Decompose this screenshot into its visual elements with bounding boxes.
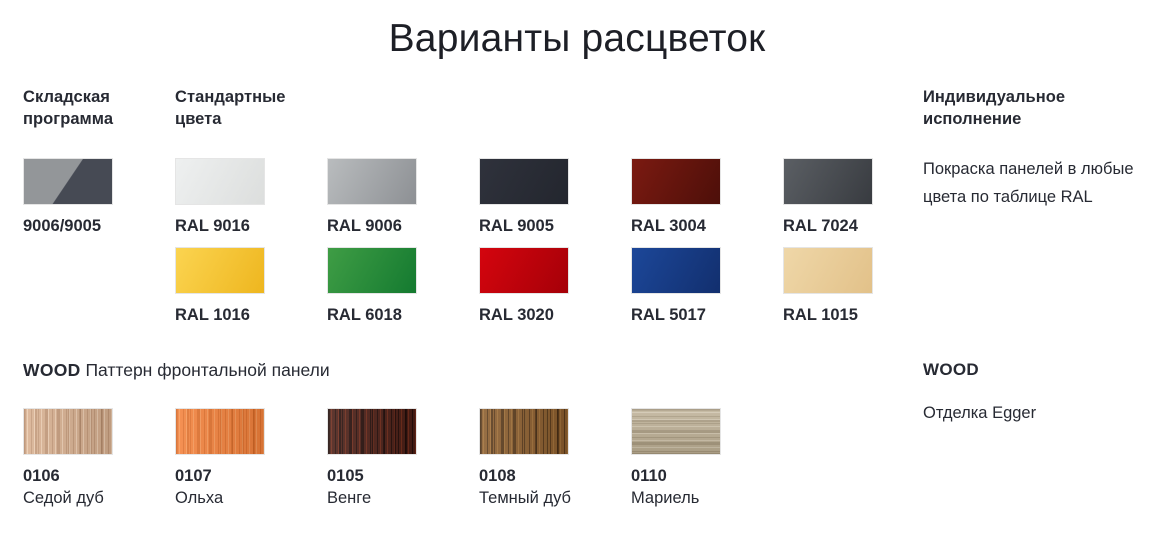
swatch-fill [328,248,416,293]
color-swatch-ral-9006[interactable]: RAL 9006 [327,158,477,237]
wood-swatch-0110[interactable]: 0110Мариель [631,408,781,510]
wood-swatch-code: 0106 [23,466,173,487]
wood-right-description: Отделка Egger [923,400,1148,426]
wood-swatch-0106[interactable]: 0106Седой дуб [23,408,173,510]
swatch-label: RAL 1016 [175,305,325,326]
swatch-fill [784,248,872,293]
swatch-box[interactable] [631,158,721,205]
color-swatch-ral-3004[interactable]: RAL 3004 [631,158,781,237]
color-swatch-ral-1016[interactable]: RAL 1016 [175,247,325,326]
color-swatch-ral-3020[interactable]: RAL 3020 [479,247,629,326]
swatch-box[interactable] [175,408,265,455]
wood-swatch-name: Мариель [631,487,781,510]
swatch-fill [328,159,416,204]
swatch-fill [176,159,264,204]
swatch-box[interactable] [23,158,113,205]
swatch-box[interactable] [175,158,265,205]
swatch-label: RAL 9005 [479,216,629,237]
swatch-label: RAL 9016 [175,216,325,237]
wood-sheen-overlay [24,409,112,454]
swatch-box[interactable] [479,408,569,455]
swatch-box[interactable] [783,247,873,294]
wood-swatch-name: Седой дуб [23,487,173,510]
custom-execution-description: Покраска панелей в любые цвета по таблиц… [923,155,1148,211]
color-swatch-ral-1015[interactable]: RAL 1015 [783,247,933,326]
heading-custom-execution: Индивидуальноеисполнение [923,86,1148,130]
swatch-fill [480,248,568,293]
swatch-fill [632,159,720,204]
swatch-label: RAL 5017 [631,305,781,326]
color-swatch-ral-6018[interactable]: RAL 6018 [327,247,477,326]
swatch-box[interactable] [783,158,873,205]
wood-sheen-overlay [632,409,720,454]
wood-swatch-0108[interactable]: 0108Темный дуб [479,408,629,510]
swatch-box[interactable] [479,247,569,294]
heading-standard-colors: Стандартныецвета [175,86,345,130]
wood-swatch-code: 0105 [327,466,477,487]
wood-swatch-0105[interactable]: 0105Венге [327,408,477,510]
wood-section-heading-rest: Паттерн фронтальной панели [81,360,330,380]
swatch-label: RAL 7024 [783,216,933,237]
wood-section-heading: WOOD Паттерн фронтальной панели [23,360,330,381]
swatch-label: RAL 1015 [783,305,933,326]
swatch-label: RAL 3020 [479,305,629,326]
wood-right-heading: WOOD [923,360,979,380]
wood-sheen-overlay [176,409,264,454]
swatch-box[interactable] [23,408,113,455]
heading-stock-program: Складскаяпрограмма [23,86,173,130]
swatch-fill [24,159,112,204]
wood-swatch-name: Темный дуб [479,487,629,510]
wood-swatch-code: 0108 [479,466,629,487]
swatch-fill [784,159,872,204]
page-title: Варианты расцветок [0,14,1154,64]
wood-sheen-overlay [328,409,416,454]
wood-section-heading-bold: WOOD [23,360,81,380]
swatch-box[interactable] [327,408,417,455]
swatch-box[interactable] [175,247,265,294]
wood-swatch-0107[interactable]: 0107Ольха [175,408,325,510]
wood-swatch-name: Венге [327,487,477,510]
swatch-fill [632,248,720,293]
swatch-box[interactable] [327,158,417,205]
color-swatch-ral-7024[interactable]: RAL 7024 [783,158,933,237]
color-swatch-ral-9016[interactable]: RAL 9016 [175,158,325,237]
swatch-fill [480,159,568,204]
wood-swatch-name: Ольха [175,487,325,510]
swatch-label: RAL 6018 [327,305,477,326]
color-swatch-ral-5017[interactable]: RAL 5017 [631,247,781,326]
color-swatch-ral-9005[interactable]: RAL 9005 [479,158,629,237]
wood-swatch-code: 0107 [175,466,325,487]
wood-swatch-code: 0110 [631,466,781,487]
swatch-fill [176,248,264,293]
wood-sheen-overlay [480,409,568,454]
swatch-box[interactable] [631,408,721,455]
swatch-label: RAL 3004 [631,216,781,237]
swatch-box[interactable] [479,158,569,205]
swatch-label: RAL 9006 [327,216,477,237]
swatch-box[interactable] [327,247,417,294]
swatch-box[interactable] [631,247,721,294]
color-swatch-9006-9005[interactable]: 9006/9005 [23,158,173,237]
swatch-label: 9006/9005 [23,216,173,237]
